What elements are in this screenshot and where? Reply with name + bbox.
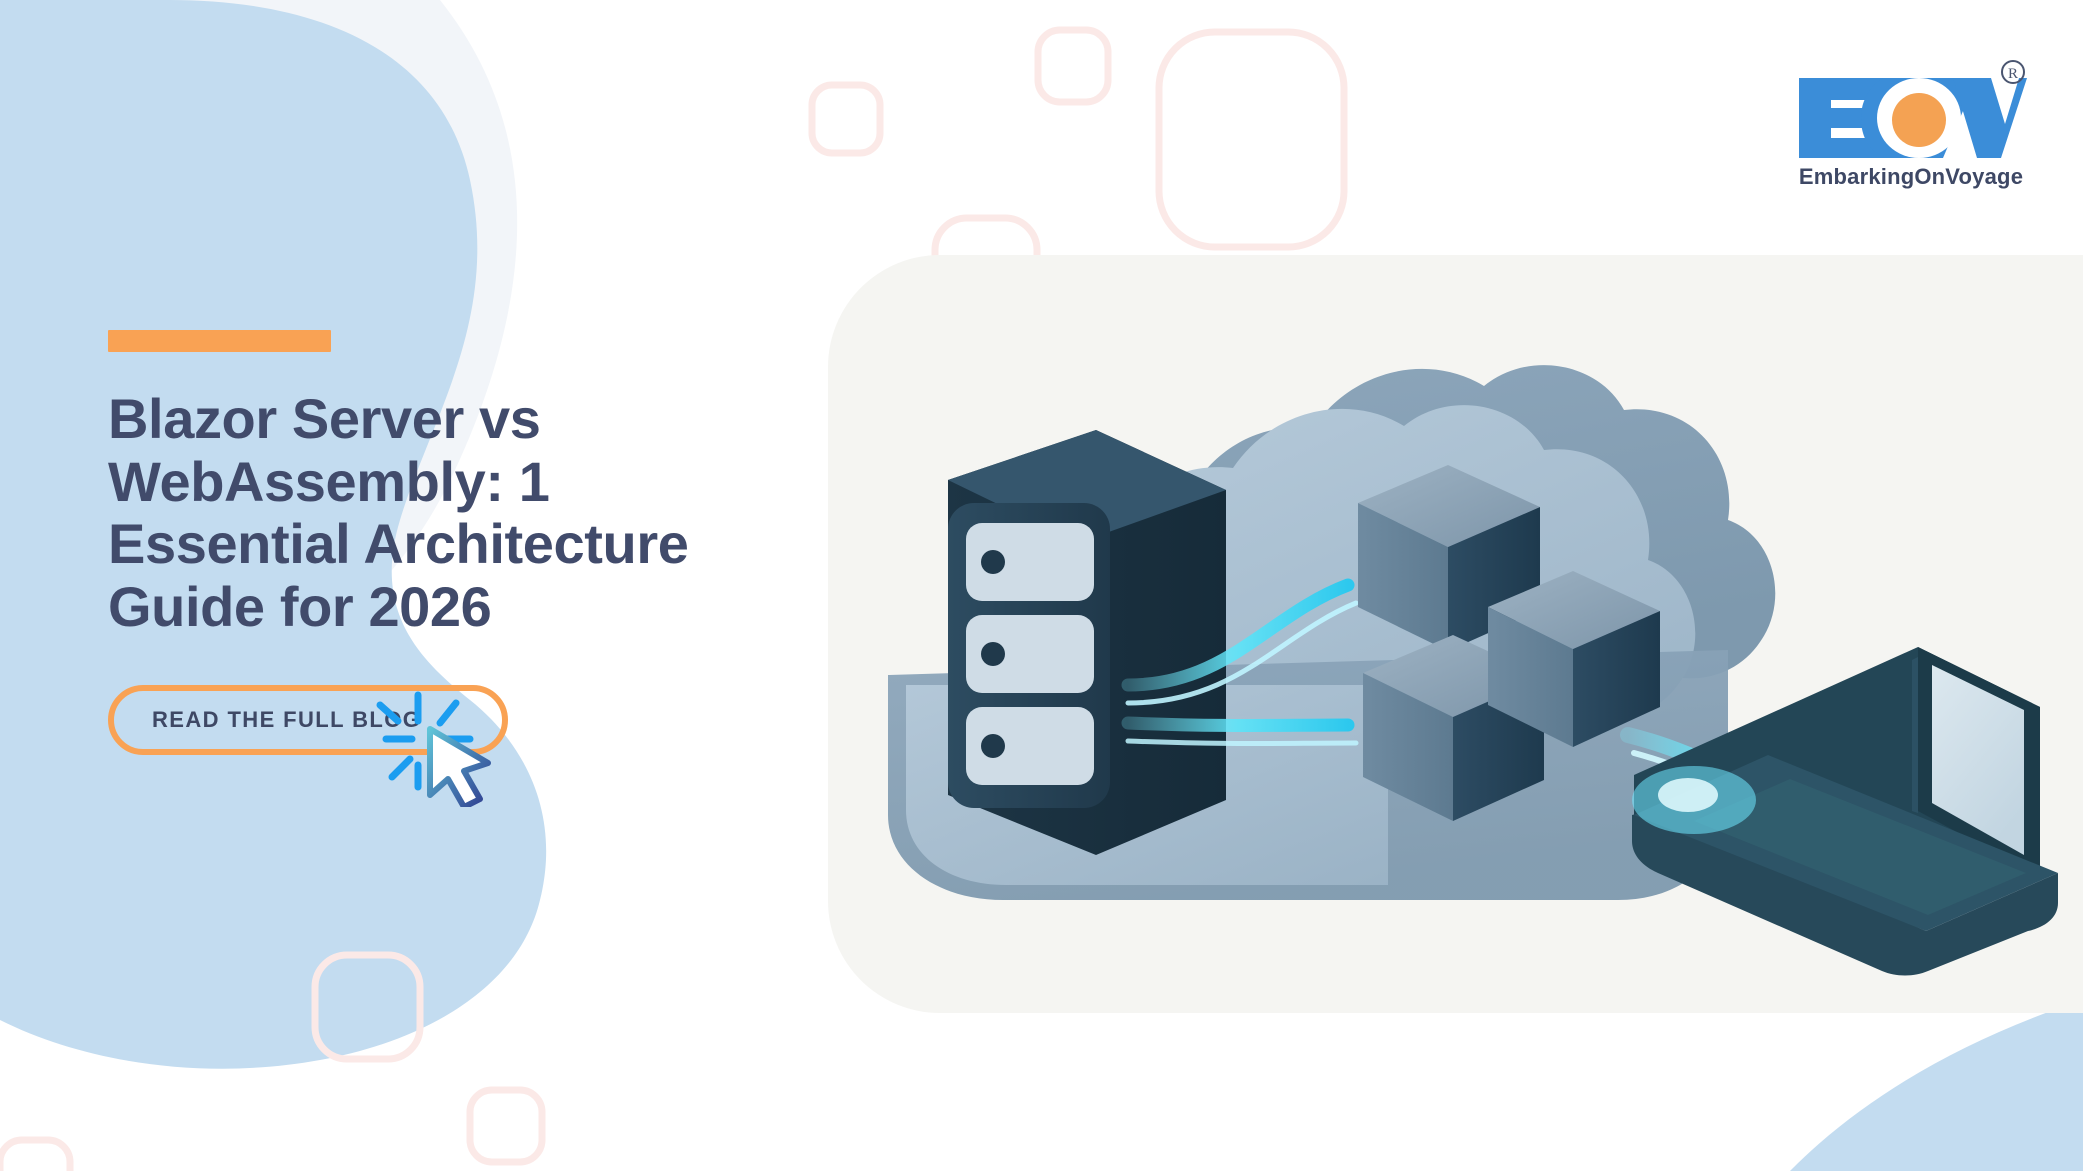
svg-text:R: R [2008,66,2018,82]
banner-canvas: Blazor Server vs WebAssembly: 1 Essentia… [0,0,2083,1171]
decor-square-3 [1159,32,1344,247]
copy-column: Blazor Server vs WebAssembly: 1 Essentia… [108,330,808,763]
cta-area: READ THE FULL BLOG [108,685,528,763]
server-slots [966,523,1094,785]
logo-orange-dot [1892,93,1946,147]
read-the-full-blog-button[interactable]: READ THE FULL BLOG [108,685,508,755]
cloud-server-laptop-illustration [828,255,2083,1013]
logo-wordmark: EmbarkingOnVoyage [1791,164,2031,190]
decor-square-1 [812,85,880,153]
server-rack-shape [948,430,1226,855]
brand-logo[interactable]: R EmbarkingOnVoyage [1791,60,2031,190]
blue-corner-wedge [1790,1000,2083,1171]
eov-logo-icon: R [1791,60,2031,160]
decor-square-2 [1038,30,1108,102]
page-title: Blazor Server vs WebAssembly: 1 Essentia… [108,388,788,639]
hero-illustration-panel [828,255,2083,1013]
decor-square-7 [0,1140,70,1171]
registered-trademark-icon: R [2002,61,2024,83]
accent-bar [108,330,331,352]
decor-square-6 [470,1090,542,1162]
